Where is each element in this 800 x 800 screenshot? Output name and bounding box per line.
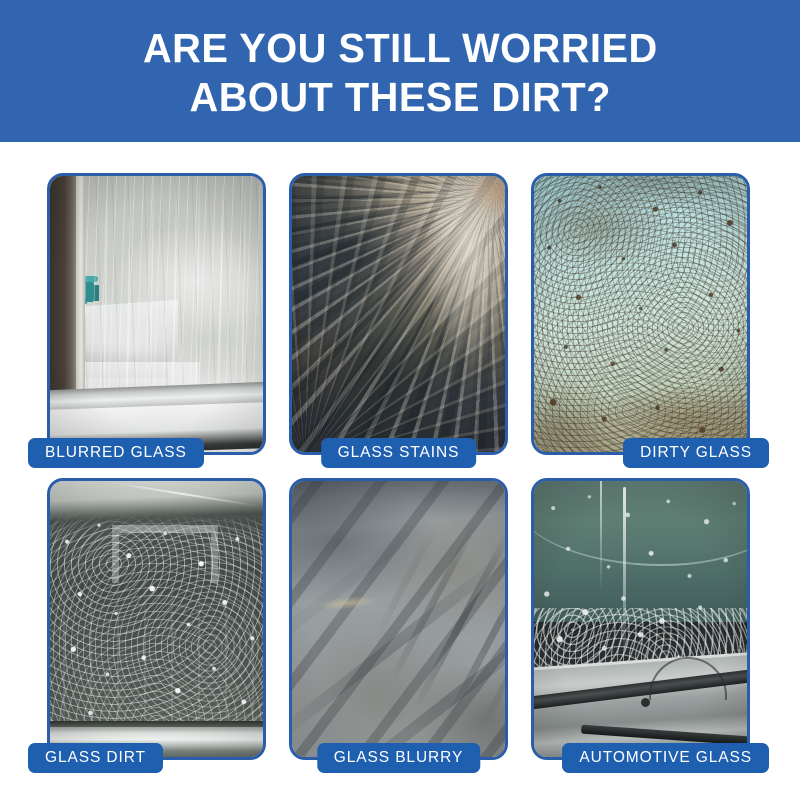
photo-glass-dirt xyxy=(50,481,263,757)
photo-glass-stains xyxy=(292,176,505,452)
photo-blurred-glass xyxy=(50,176,263,452)
gallery-card-glass-stains[interactable]: GLASS STAINS xyxy=(289,173,508,455)
photo-automotive-glass xyxy=(534,481,747,757)
gallery-card-dirty-glass[interactable]: DIRTY GLASS xyxy=(531,173,750,455)
headline-line-1: ARE YOU STILL WORRIED xyxy=(143,24,658,73)
card-label-dirty-glass: DIRTY GLASS xyxy=(623,438,769,468)
photo-glass-blurry xyxy=(292,481,505,757)
headline-line-2: ABOUT THESE DIRT? xyxy=(189,73,610,122)
gallery-card-automotive-glass[interactable]: AUTOMOTIVE GLASS xyxy=(531,478,750,760)
header-banner: ARE YOU STILL WORRIED ABOUT THESE DIRT? xyxy=(0,0,800,142)
photo-dirty-glass xyxy=(534,176,747,452)
card-label-glass-blurry: GLASS BLURRY xyxy=(317,743,480,773)
gallery-card-glass-dirt[interactable]: GLASS DIRT xyxy=(47,478,266,760)
card-label-blurred-glass: BLURRED GLASS xyxy=(28,438,204,468)
card-label-glass-dirt: GLASS DIRT xyxy=(28,743,163,773)
card-label-glass-stains: GLASS STAINS xyxy=(321,438,477,468)
gallery-card-blurred-glass[interactable]: BLURRED GLASS xyxy=(47,173,266,455)
card-label-automotive-glass: AUTOMOTIVE GLASS xyxy=(562,743,769,773)
gallery-card-glass-blurry[interactable]: GLASS BLURRY xyxy=(289,478,508,760)
promo-poster: ARE YOU STILL WORRIED ABOUT THESE DIRT? xyxy=(0,0,800,800)
gallery-grid: BLURRED GLASS GLASS STAINS xyxy=(47,173,765,760)
